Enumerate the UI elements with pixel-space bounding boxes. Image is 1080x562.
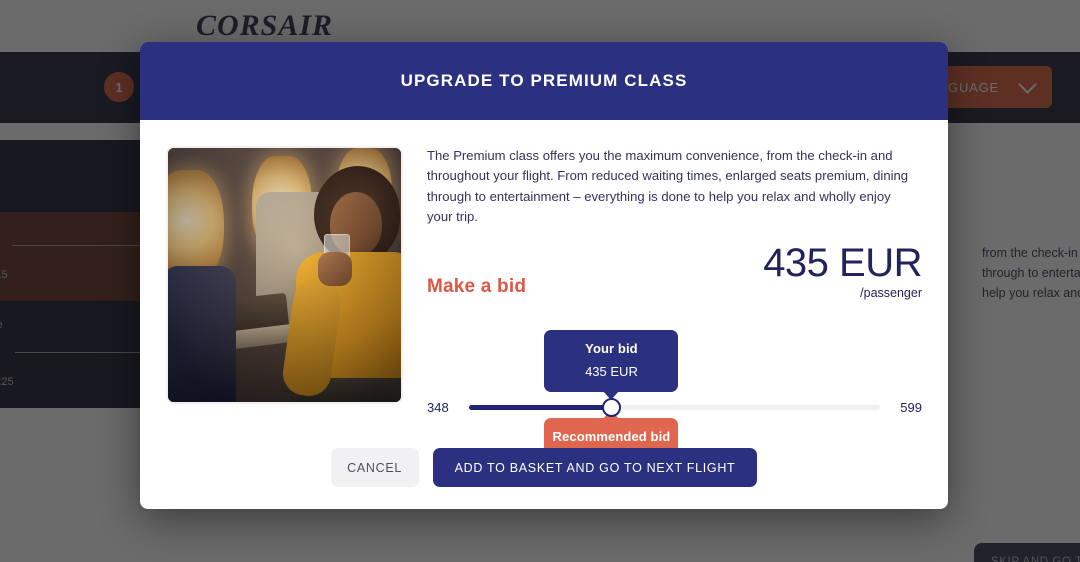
modal-actions: CANCEL ADD TO BASKET AND GO TO NEXT FLIG… xyxy=(140,448,948,487)
slider-track[interactable] xyxy=(469,405,880,410)
your-bid-tooltip: Your bid 435 EUR xyxy=(544,330,678,392)
price-unit: /passenger xyxy=(763,286,922,300)
modal-header: UPGRADE TO PREMIUM CLASS xyxy=(140,42,948,120)
slider-thumb[interactable] xyxy=(602,398,621,417)
your-bid-title: Your bid xyxy=(550,341,672,356)
modal-title: UPGRADE TO PREMIUM CLASS xyxy=(401,71,688,91)
price-block: 435 EUR /passenger xyxy=(763,242,922,300)
slider-max-label: 599 xyxy=(894,400,922,415)
premium-cabin-photo xyxy=(166,146,403,404)
add-to-basket-button[interactable]: ADD TO BASKET AND GO TO NEXT FLIGHT xyxy=(433,448,758,487)
modal-content-right: The Premium class offers you the maximum… xyxy=(427,146,922,470)
screen: CORSAIR 1 LANGUAGE S Y 12:15 Pitre O xyxy=(0,0,1080,562)
photo-vignette xyxy=(168,148,401,402)
make-a-bid-label: Make a bid xyxy=(427,276,526,300)
modal-body: The Premium class offers you the maximum… xyxy=(140,120,948,470)
recommended-bid-title: Recommended bid xyxy=(550,429,672,444)
premium-description: The Premium class offers you the maximum… xyxy=(427,146,909,228)
slider-track-fill xyxy=(469,405,611,410)
upgrade-price: 435 EUR xyxy=(763,242,922,284)
bid-slider[interactable]: 348 599 xyxy=(427,400,922,415)
bid-header-row: Make a bid 435 EUR /passenger xyxy=(427,242,922,300)
upgrade-modal: UPGRADE TO PREMIUM CLASS xyxy=(140,42,948,509)
slider-min-label: 348 xyxy=(427,400,455,415)
your-bid-value: 435 EUR xyxy=(550,364,672,379)
cancel-button[interactable]: CANCEL xyxy=(331,448,419,487)
